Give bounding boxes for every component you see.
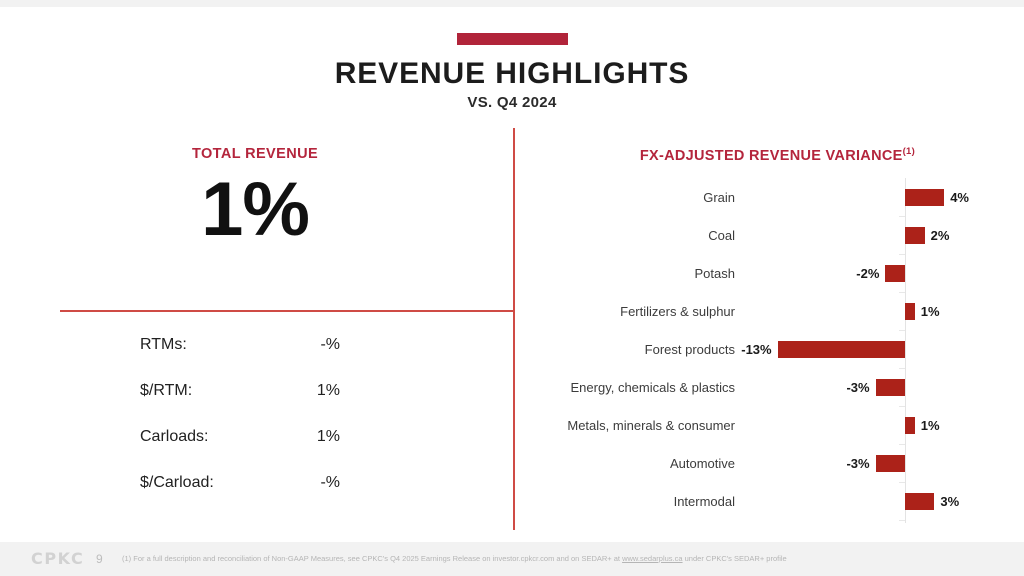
list-item: $/Carload: -% [140,474,390,520]
total-revenue-heading: TOTAL REVENUE [55,146,455,162]
slide-canvas: REVENUE HIGHLIGHTS VS. Q4 2024 TOTAL REV… [0,0,1024,576]
chart-bar [778,341,905,358]
chart-bar-value: 1% [921,292,940,330]
chart-bar-value: -13% [738,330,772,368]
chart-bar-value: 3% [940,482,959,520]
fx-variance-footnote-marker: (1) [903,146,916,157]
chart-category-label: Forest products [540,330,735,368]
chart-bar-value: -3% [836,444,870,482]
metric-label: Carloads: [140,428,270,446]
sedarplus-link[interactable]: www.sedarplus.ca [622,554,682,563]
metric-value: 1% [270,428,340,446]
metrics-list: RTMs: -% $/RTM: 1% Carloads: 1% $/Carloa… [140,336,390,520]
chart-bar-row: Automotive-3% [540,444,1010,482]
fx-adjusted-revenue-variance-chart: Grain4%Coal2%Potash-2%Fertilizers & sulp… [540,178,1010,523]
total-revenue-value: 1% [55,172,455,248]
chart-bar-row: Forest products-13% [540,330,1010,368]
footnote-prefix: (1) For a full description and reconcili… [122,554,622,563]
chart-category-label: Coal [540,216,735,254]
chart-category-label: Energy, chemicals & plastics [540,368,735,406]
chart-bar-row: Fertilizers & sulphur1% [540,292,1010,330]
chart-bar-row: Grain4% [540,178,1010,216]
cpkc-logo: CPKC [31,549,84,568]
chart-category-label: Automotive [540,444,735,482]
chart-bar-row: Potash-2% [540,254,1010,292]
chart-bar-value: -3% [836,368,870,406]
chart-bar-value: 2% [931,216,950,254]
metric-value: 1% [270,382,340,400]
chart-bar [876,379,905,396]
chart-bar [905,417,915,434]
fx-variance-heading-text: FX-ADJUSTED REVENUE VARIANCE [640,148,903,164]
chart-bar [885,265,905,282]
chart-bar [905,493,934,510]
chart-category-label: Fertilizers & sulphur [540,292,735,330]
list-item: Carloads: 1% [140,428,390,474]
page-number: 9 [96,552,103,566]
list-item: RTMs: -% [140,336,390,382]
chart-category-label: Metals, minerals & consumer [540,406,735,444]
footnote-suffix: under CPKC's SEDAR+ profile [683,554,787,563]
footnote: (1) For a full description and reconcili… [122,554,787,563]
list-item: $/RTM: 1% [140,382,390,428]
horizontal-divider [60,310,514,312]
top-strip [0,0,1024,7]
chart-bar [905,189,944,206]
chart-bar [905,227,925,244]
page-subtitle: VS. Q4 2024 [0,94,1024,111]
chart-bar-row: Metals, minerals & consumer1% [540,406,1010,444]
chart-axis-tick [899,520,905,521]
chart-category-label: Potash [540,254,735,292]
metric-label: $/RTM: [140,382,270,400]
chart-bar-value: -2% [845,254,879,292]
chart-bar [876,455,905,472]
chart-category-label: Intermodal [540,482,735,520]
metric-label: $/Carload: [140,474,270,492]
chart-bar-value: 1% [921,406,940,444]
metric-value: -% [270,474,340,492]
chart-bar-row: Coal2% [540,216,1010,254]
fx-variance-heading: FX-ADJUSTED REVENUE VARIANCE(1) [545,146,1010,164]
chart-bar-row: Intermodal3% [540,482,1010,520]
page-title: REVENUE HIGHLIGHTS [0,57,1024,91]
vertical-divider [513,128,515,530]
header-accent-bar [457,33,568,45]
chart-category-label: Grain [540,178,735,216]
chart-bar-row: Energy, chemicals & plastics-3% [540,368,1010,406]
metric-label: RTMs: [140,336,270,354]
chart-bar-value: 4% [950,178,969,216]
chart-bar [905,303,915,320]
metric-value: -% [270,336,340,354]
